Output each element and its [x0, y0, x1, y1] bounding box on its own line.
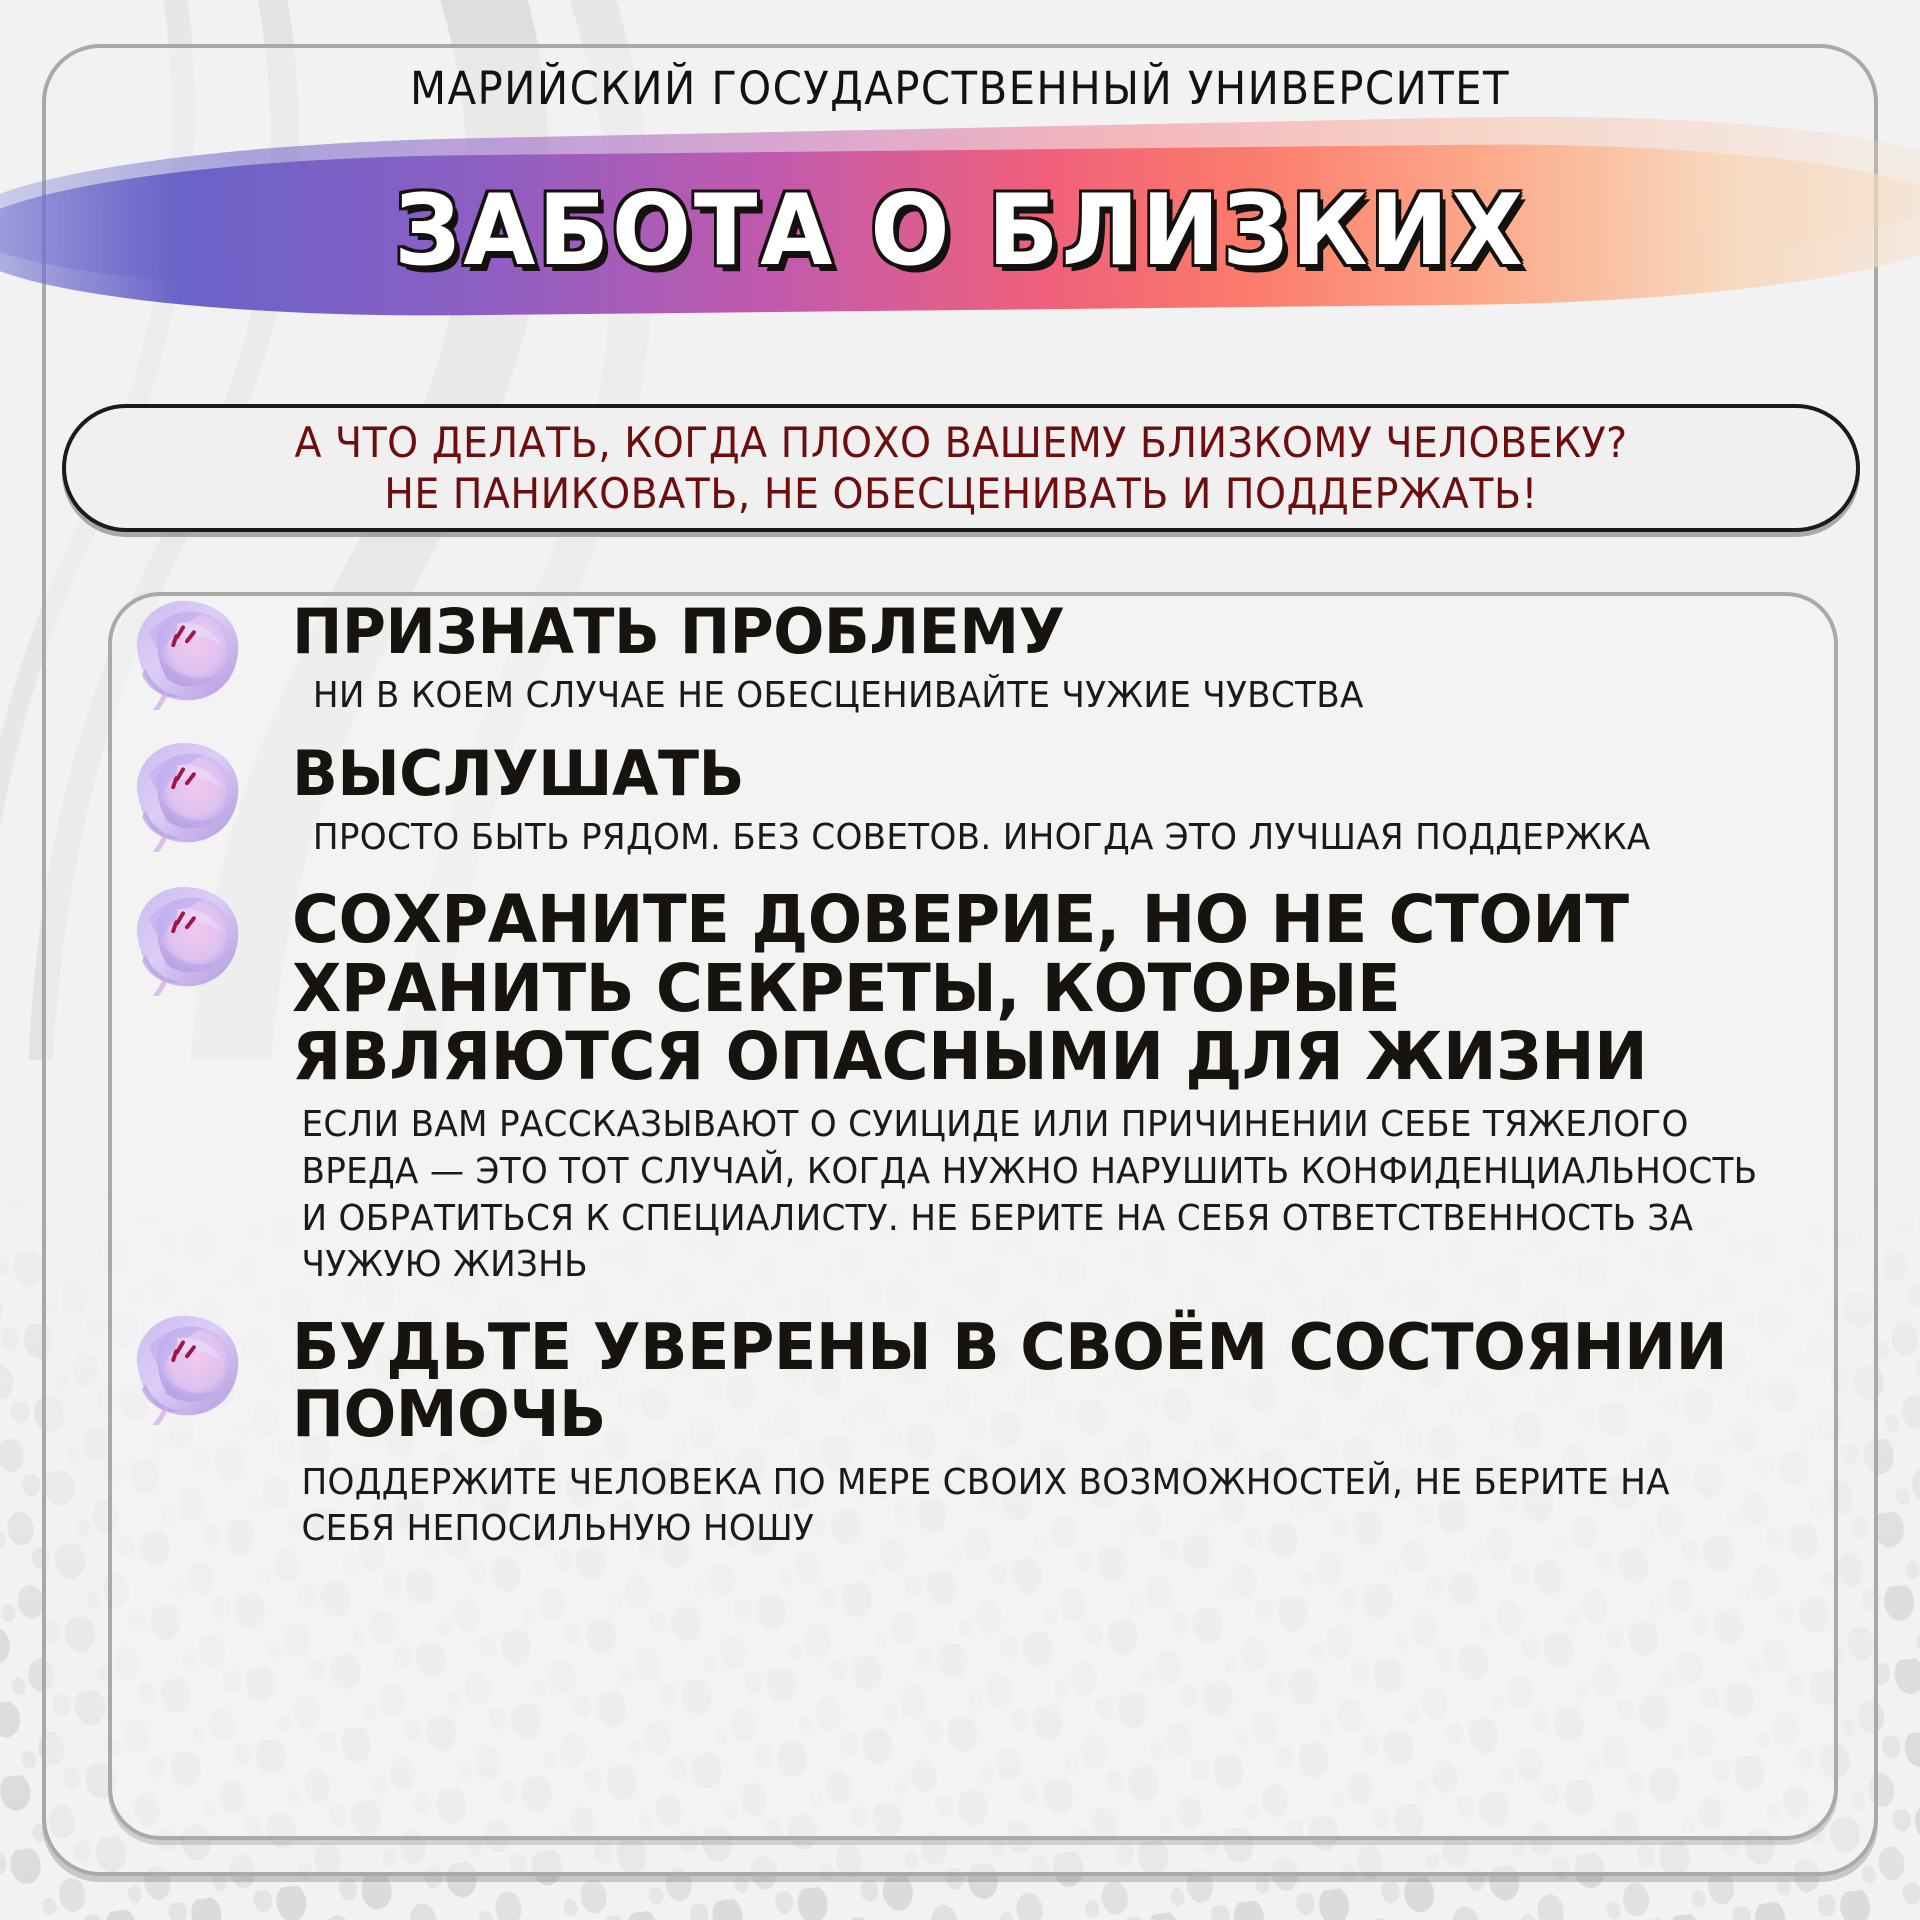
tip-heading: ПРИЗНАТЬ ПРОБЛЕМУ — [292, 600, 1805, 663]
flower-icon — [122, 592, 250, 710]
tips-list: ПРИЗНАТЬ ПРОБЛЕМУ НИ В КОЕМ СЛУЧАЕ НЕ ОБ… — [112, 600, 1852, 1559]
flower-icon — [122, 734, 250, 852]
tip-heading: ВЫСЛУШАТЬ — [292, 742, 1805, 805]
list-item: СОХРАНИТЕ ДОВЕРИЕ, НО НЕ СТОИТ ХРАНИТЬ С… — [112, 886, 1852, 1289]
tip-body: ПОДДЕРЖИТЕ ЧЕЛОВЕКА ПО МЕРЕ СВОИХ ВОЗМОЖ… — [292, 1460, 1774, 1554]
tip-body: ПРОСТО БЫТЬ РЯДОМ. БЕЗ СОВЕТОВ. ИНОГДА Э… — [292, 815, 1774, 862]
tip-body: ЕСЛИ ВАМ РАССКАЗЫВАЮТ О СУИЦИДЕ ИЛИ ПРИЧ… — [292, 1102, 1774, 1289]
list-item: БУДЬТЕ УВЕРЕНЫ В СВОЁМ СОСТОЯНИИ ПОМОЧЬ … — [112, 1315, 1852, 1553]
subtitle-line-2: НЕ ПАНИКОВАТЬ, НЕ ОБЕСЦЕНИВАТЬ И ПОДДЕРЖ… — [295, 468, 1628, 519]
flower-icon — [122, 878, 250, 996]
university-name: МАРИЙСКИЙ ГОСУДАРСТВЕННЫЙ УНИВЕРСИТЕТ — [67, 62, 1853, 115]
tip-heading: БУДЬТЕ УВЕРЕНЫ В СВОЁМ СОСТОЯНИИ ПОМОЧЬ — [292, 1315, 1805, 1449]
list-item: ПРИЗНАТЬ ПРОБЛЕМУ НИ В КОЕМ СЛУЧАЕ НЕ ОБ… — [112, 600, 1852, 720]
tip-body: НИ В КОЕМ СЛУЧАЕ НЕ ОБЕСЦЕНИВАЙТЕ ЧУЖИЕ … — [292, 673, 1774, 720]
flower-icon — [122, 1307, 250, 1425]
subtitle-box: А ЧТО ДЕЛАТЬ, КОГДА ПЛОХО ВАШЕМУ БЛИЗКОМ… — [62, 404, 1860, 532]
page-title: ЗАБОТА О БЛИЗКИХ — [48, 174, 1872, 288]
subtitle-line-1: А ЧТО ДЕЛАТЬ, КОГДА ПЛОХО ВАШЕМУ БЛИЗКОМ… — [295, 417, 1628, 468]
list-item: ВЫСЛУШАТЬ ПРОСТО БЫТЬ РЯДОМ. БЕЗ СОВЕТОВ… — [112, 742, 1852, 862]
tip-heading: СОХРАНИТЕ ДОВЕРИЕ, НО НЕ СТОИТ ХРАНИТЬ С… — [292, 886, 1805, 1092]
